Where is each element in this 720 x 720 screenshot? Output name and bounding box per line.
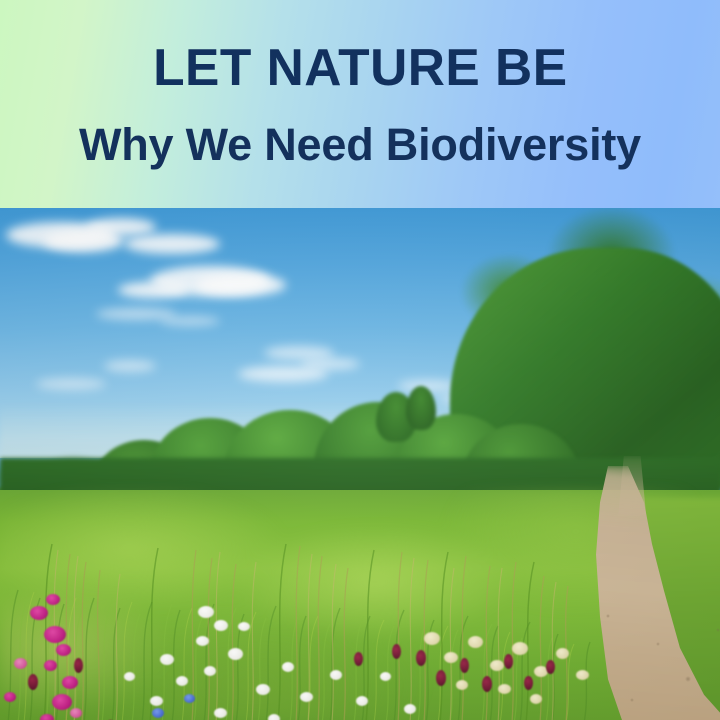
flower-magenta <box>52 694 72 710</box>
flower-dark-red <box>28 674 38 690</box>
flower-white <box>198 606 214 618</box>
flower-magenta <box>46 594 60 605</box>
hero-photo <box>0 208 720 720</box>
flower-magenta <box>62 676 78 689</box>
cloud <box>124 234 220 254</box>
header-text-group: LET NATURE BE Why We Need Biodiversity <box>0 0 720 208</box>
cloud <box>86 218 156 236</box>
flower-pink <box>14 658 27 669</box>
flower-cream <box>424 632 440 645</box>
cloud <box>160 316 220 326</box>
flower-magenta <box>44 660 57 671</box>
flower-dark-red <box>74 658 83 673</box>
flower-white <box>160 654 174 665</box>
flower-white <box>238 622 250 631</box>
flower-dark-red <box>354 652 363 666</box>
flower-white <box>356 696 368 706</box>
flower-dark-red <box>392 644 401 659</box>
flower-cream <box>490 660 504 671</box>
wildflowers <box>0 408 720 720</box>
flower-white <box>404 704 416 714</box>
flower-dark-red <box>416 650 426 666</box>
flower-dark-red <box>504 654 513 669</box>
flower-white <box>380 672 391 681</box>
poster-canvas: LET NATURE BE Why We Need Biodiversity <box>0 0 720 720</box>
flower-cream <box>468 636 483 648</box>
flower-dark-red <box>482 676 492 692</box>
flower-white <box>196 636 209 646</box>
flower-white <box>268 714 280 720</box>
flower-white <box>282 662 294 672</box>
flower-cornflower <box>184 694 195 703</box>
flower-cream <box>576 670 589 680</box>
flower-white <box>204 666 216 676</box>
flower-white <box>300 692 313 702</box>
flower-magenta <box>40 714 54 720</box>
flower-magenta <box>4 692 16 702</box>
flower-cream <box>530 694 542 704</box>
flower-dark-red <box>460 658 469 673</box>
flower-white <box>124 672 135 681</box>
header-banner: LET NATURE BE Why We Need Biodiversity <box>0 0 720 208</box>
flower-cream <box>444 652 458 663</box>
flower-white <box>228 648 243 660</box>
flower-cornflower <box>152 708 164 718</box>
flower-dark-red <box>436 670 446 686</box>
flower-white <box>214 708 227 718</box>
flower-magenta <box>56 644 71 656</box>
flower-cream <box>556 648 569 659</box>
flower-white <box>214 620 228 631</box>
page-subtitle: Why We Need Biodiversity <box>79 122 641 167</box>
page-title: LET NATURE BE <box>153 42 567 94</box>
flower-dark-red <box>524 676 533 690</box>
cloud <box>118 282 188 298</box>
flower-white <box>330 670 342 680</box>
flower-dark-red <box>546 660 555 674</box>
flower-cream <box>512 642 528 655</box>
flower-cream <box>456 680 468 690</box>
flower-pink <box>70 708 82 718</box>
cloud <box>196 274 286 296</box>
flower-white <box>256 684 270 695</box>
flower-magenta <box>30 606 48 620</box>
flower-cream <box>498 684 511 694</box>
flower-white <box>150 696 163 706</box>
flower-white <box>176 676 188 686</box>
flower-magenta <box>44 626 66 643</box>
